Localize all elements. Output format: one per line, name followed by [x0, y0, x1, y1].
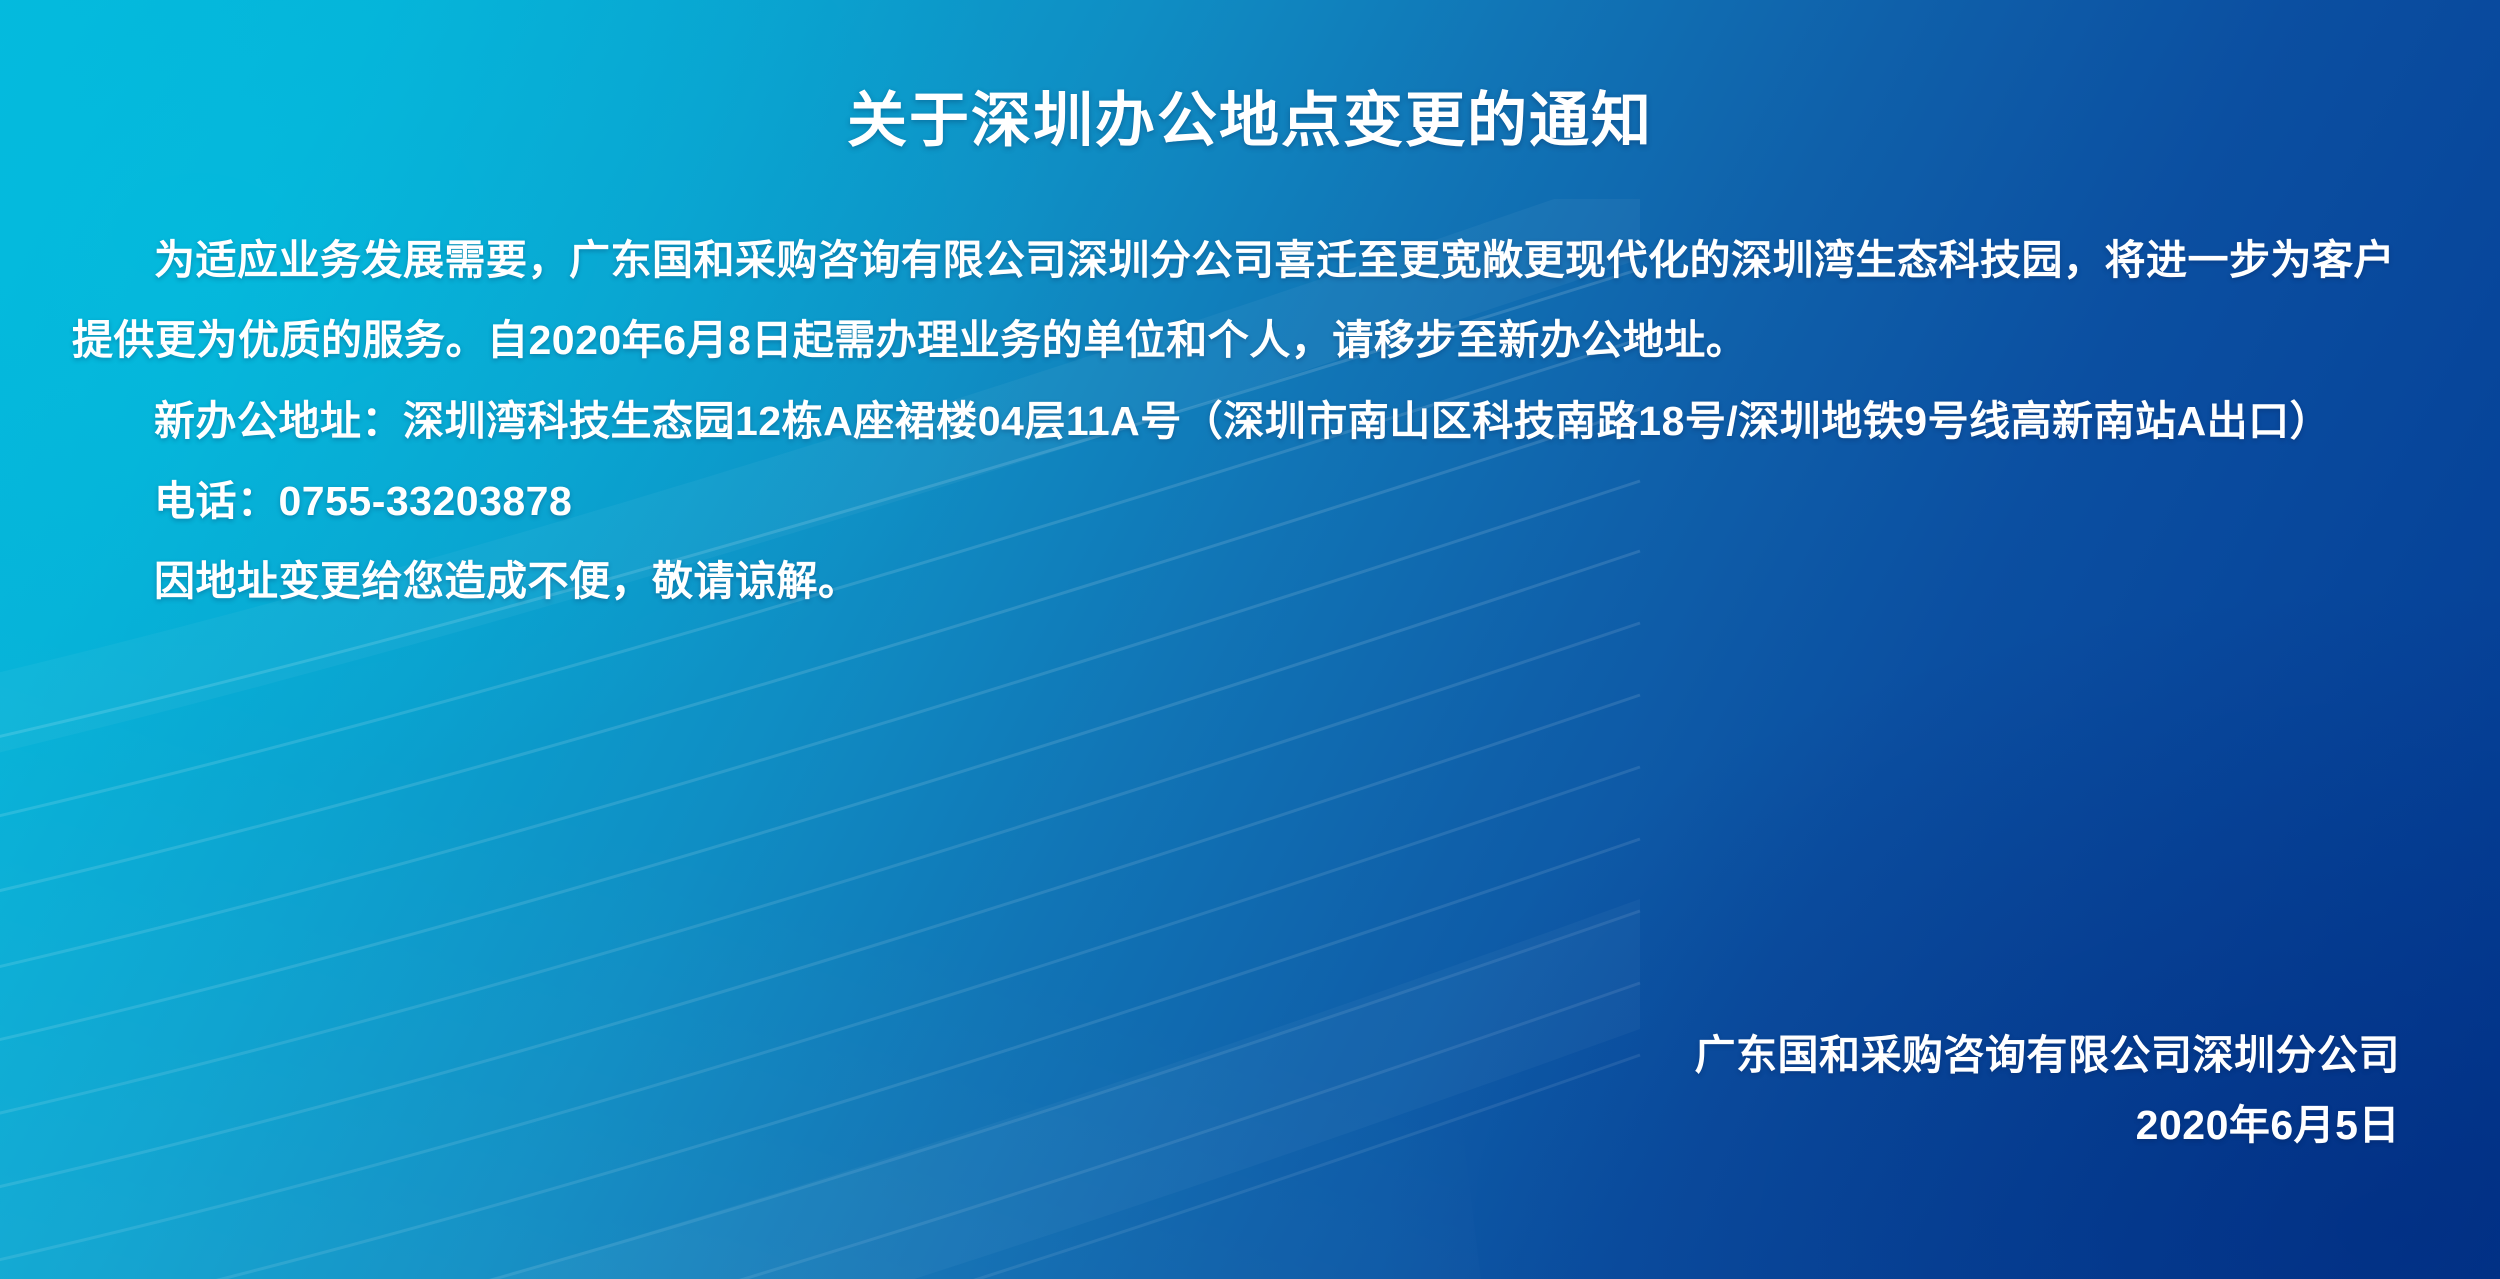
apology-text: 因地址变更给您造成不便，敬请谅解。: [154, 558, 860, 604]
notice-banner: 关于深圳办公地点变更的通知 为适应业务发展需要，广东国和采购咨询有限公司深圳分公…: [0, 0, 2500, 1279]
intro-paragraph: 为适应业务发展需要，广东国和采购咨询有限公司深圳分公司喜迁至更宽敞更现代化的深圳…: [72, 220, 2402, 381]
phone-text: 电话：0755-33203878: [154, 478, 572, 524]
address-line-2: 深圳地铁9号线高新南站A出口）: [1738, 398, 2331, 444]
phone-line: 电话：0755-33203878: [72, 461, 2402, 541]
signature-company: 广东国和采购咨询有限公司深圳分公司: [1695, 1020, 2401, 1091]
address-line-1: 新办公地址：深圳湾科技生态园12栋A座裙楼04层11A号（深圳市南山区科技南路1…: [154, 398, 1738, 444]
intro-line-1: 为适应业务发展需要，广东国和采购咨询有限公司深圳分公司喜迁至更宽敞更现代化的: [154, 237, 1731, 283]
page-title: 关于深圳办公地点变更的通知: [72, 0, 2428, 154]
apology-line: 因地址变更给您造成不便，敬请谅解。: [72, 541, 2402, 621]
notice-body: 为适应业务发展需要，广东国和采购咨询有限公司深圳分公司喜迁至更宽敞更现代化的深圳…: [72, 220, 2428, 622]
notice-content: 关于深圳办公地点变更的通知 为适应业务发展需要，广东国和采购咨询有限公司深圳分公…: [0, 0, 2500, 1279]
intro-line-3: 单位和个人，请移步至新办公地址。: [1083, 317, 1747, 363]
signature-block: 广东国和采购咨询有限公司深圳分公司 2020年6月5日: [1695, 1020, 2401, 1161]
signature-date: 2020年6月5日: [1695, 1090, 2401, 1161]
address-paragraph: 新办公地址：深圳湾科技生态园12栋A座裙楼04层11A号（深圳市南山区科技南路1…: [72, 381, 2402, 461]
